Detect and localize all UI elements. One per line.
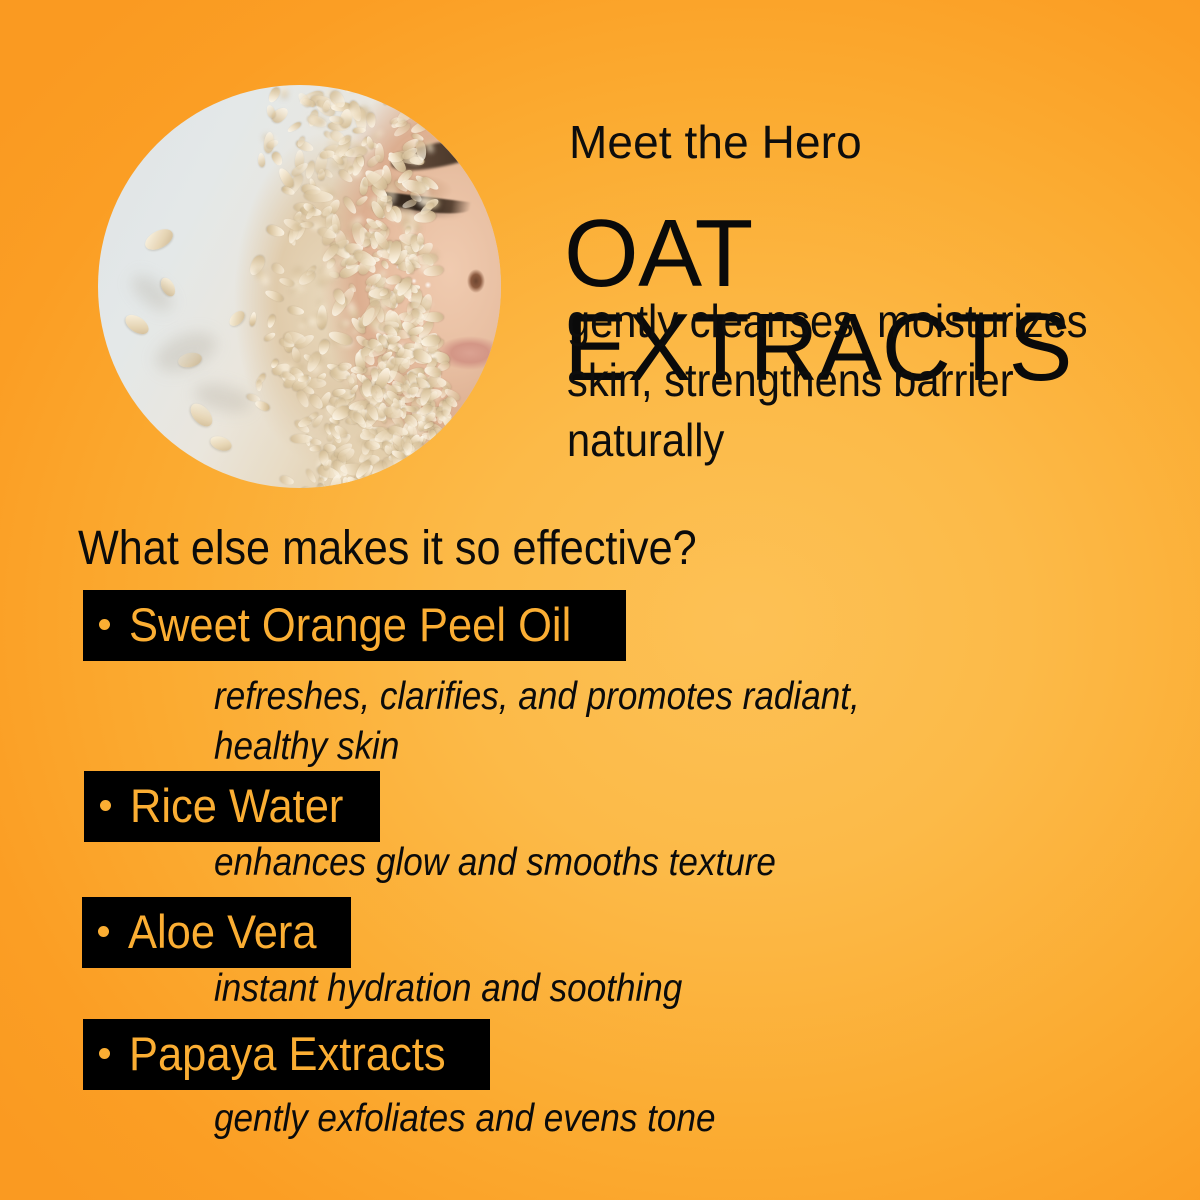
ingredient-description: instant hydration and soothing xyxy=(214,964,682,1014)
ingredient-name: Papaya Extracts xyxy=(129,1030,446,1077)
bullet-dot-icon xyxy=(100,800,111,811)
ingredient-description: refreshes, clarifies, and promotes radia… xyxy=(214,672,860,771)
ingredient-chip[interactable]: Aloe Vera xyxy=(82,897,351,968)
ingredient-description: enhances glow and smooths texture xyxy=(214,838,776,888)
ingredient-description: gently exfoliates and evens tone xyxy=(214,1094,715,1144)
hero-product-image xyxy=(98,85,501,488)
hero-description: gently cleanses, moisturizes skin, stren… xyxy=(567,292,1146,470)
ingredient-name: Aloe Vera xyxy=(128,908,317,955)
ingredient-chip[interactable]: Sweet Orange Peel Oil xyxy=(83,590,626,661)
poster-canvas: Meet the Hero OAT EXTRACTS gently cleans… xyxy=(0,0,1200,1200)
hero-eyebrow-label: Meet the Hero xyxy=(569,119,862,165)
ingredient-name: Sweet Orange Peel Oil xyxy=(129,601,571,648)
bullet-dot-icon xyxy=(99,619,110,630)
section-heading: What else makes it so effective? xyxy=(78,525,697,573)
ingredient-chip[interactable]: Papaya Extracts xyxy=(83,1019,490,1090)
bullet-dot-icon xyxy=(98,926,109,937)
ingredient-chip[interactable]: Rice Water xyxy=(84,771,380,842)
ingredient-name: Rice Water xyxy=(130,782,343,829)
bullet-dot-icon xyxy=(99,1048,110,1059)
oat-grains-overlay xyxy=(98,85,501,488)
